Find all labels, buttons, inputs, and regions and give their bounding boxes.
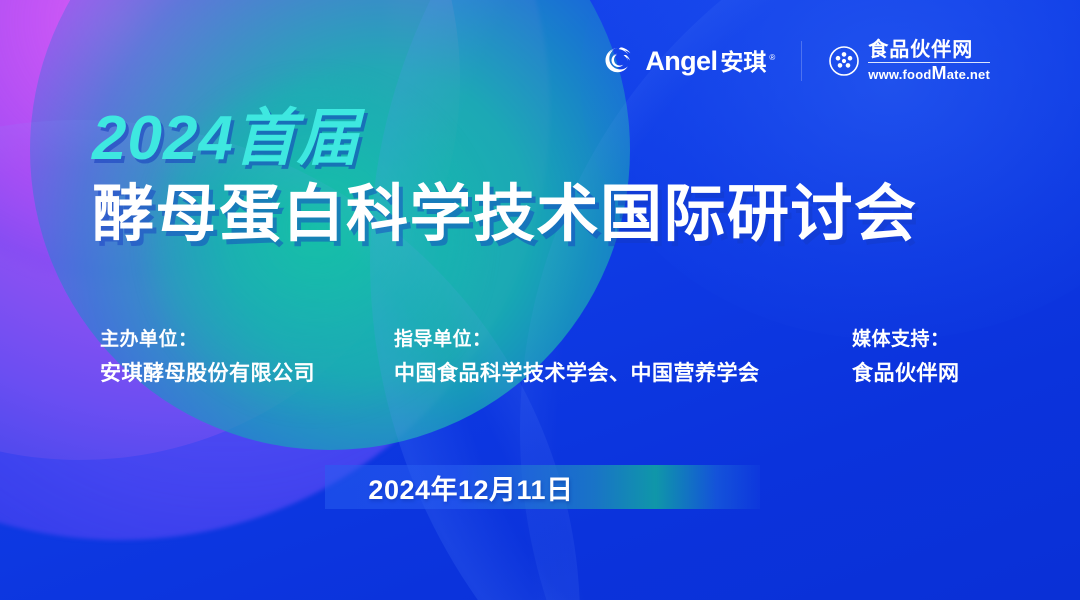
angel-logo-name-en: Angel [645, 48, 717, 75]
foodmate-url-suffix: ate.net [947, 67, 990, 82]
angel-logo: Angel 安琪 ® [598, 41, 775, 81]
angel-swirl-icon [598, 41, 638, 81]
partner-guidance-value: 中国食品科学技术学会、中国营养学会 [394, 361, 760, 387]
conference-poster: Angel 安琪 ® [0, 0, 1080, 600]
partner-media-value: 食品伙伴网 [852, 361, 960, 387]
partner-group: 主办单位： 安琪酵母股份有限公司 指导单位： 中国食品科学技术学会、中国营养学会… [0, 328, 1080, 408]
angel-logo-name-cn: 安琪 [720, 51, 766, 74]
angel-registered-mark: ® [769, 54, 775, 62]
partner-guidance: 指导单位： 中国食品科学技术学会、中国营养学会 [394, 328, 760, 387]
logo-divider [801, 41, 802, 81]
partner-host-label: 主办单位： [100, 328, 315, 352]
partner-media: 媒体支持： 食品伙伴网 [852, 328, 960, 387]
partner-host: 主办单位： 安琪酵母股份有限公司 [100, 328, 315, 387]
headline-block: 2024首届 酵母蛋白科学技术国际研讨会 [92, 108, 918, 249]
partner-media-label: 媒体支持： [852, 328, 960, 352]
foodmate-snowflake-icon [828, 45, 860, 77]
title-line-1: 2024首届 [92, 108, 918, 170]
partner-guidance-label: 指导单位： [394, 328, 760, 352]
foodmate-name-cn: 食品伙伴网 [868, 40, 990, 61]
angel-logo-wordmark: Angel 安琪 ® [645, 48, 775, 75]
foodmate-url-mid: M [931, 63, 946, 83]
title-line-2: 酵母蛋白科学技术国际研讨会 [92, 182, 918, 249]
logo-group: Angel 安琪 ® [598, 40, 990, 83]
foodmate-url: www.foodMate.net [868, 62, 990, 83]
event-date: 2024年12月11日 [0, 465, 1080, 509]
partner-host-value: 安琪酵母股份有限公司 [100, 361, 315, 387]
foodmate-wordmark: 食品伙伴网 www.foodMate.net [868, 40, 990, 83]
foodmate-logo: 食品伙伴网 www.foodMate.net [828, 40, 990, 83]
foodmate-url-prefix: www.food [868, 67, 931, 82]
background-decoration [0, 0, 1080, 600]
